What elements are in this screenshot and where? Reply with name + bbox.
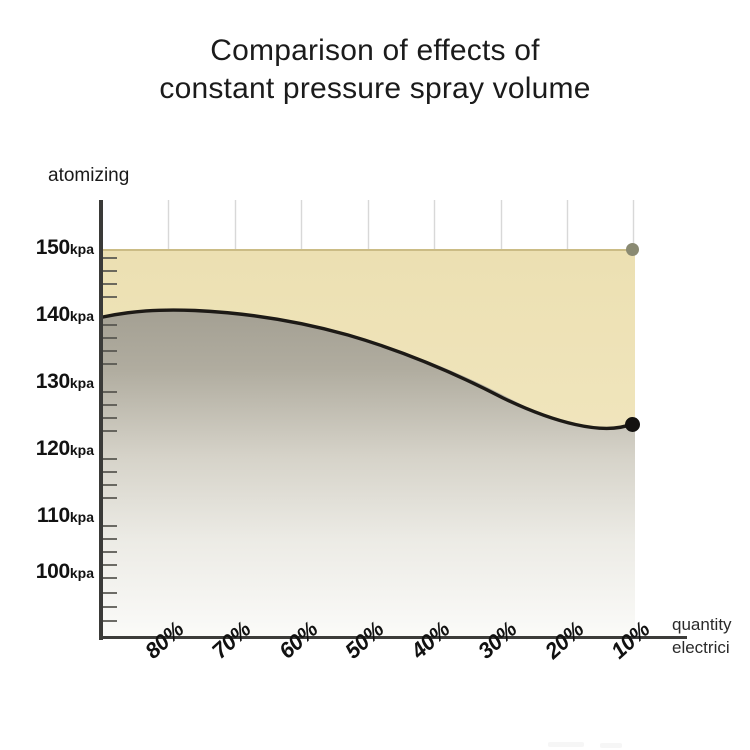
chart-canvas: Comparison of effects of constant pressu… [0, 0, 750, 750]
scan-artifact [600, 743, 622, 748]
y-tick-unit: kpa [70, 509, 94, 525]
y-minor-tick [103, 391, 117, 393]
chart-title-line1: Comparison of effects of [210, 34, 539, 67]
chart-title: Comparison of effects of constant pressu… [0, 32, 750, 108]
x-axis-title: quantity electrici [672, 613, 732, 659]
y-minor-tick [103, 577, 117, 579]
y-tick-label-140: 140kpa [36, 303, 94, 327]
y-minor-tick [103, 484, 117, 486]
chart-title-line2: constant pressure spray volume [0, 70, 750, 108]
y-tick-unit: kpa [70, 308, 94, 324]
y-tick-value: 100 [36, 560, 70, 583]
y-tick-label-120: 120kpa [36, 437, 94, 461]
y-minor-tick [103, 363, 117, 365]
y-minor-tick [103, 471, 117, 473]
y-axis-line [99, 200, 103, 640]
y-minor-tick [103, 538, 117, 540]
y-minor-tick [103, 564, 117, 566]
y-minor-tick [103, 458, 117, 460]
y-tick-value: 120 [36, 437, 70, 460]
y-axis-title: atomizing [48, 165, 129, 187]
scan-artifact [548, 742, 584, 747]
y-tick-value: 150 [36, 236, 70, 259]
y-minor-tick [103, 270, 117, 272]
y-minor-tick [103, 417, 117, 419]
plot-svg [103, 200, 635, 638]
y-tick-unit: kpa [70, 442, 94, 458]
x-axis-title-line2: electrici [672, 636, 732, 659]
plot-area [103, 200, 635, 638]
y-minor-tick [103, 551, 117, 553]
y-minor-tick [103, 497, 117, 499]
constant-pressure-endpoint-marker [626, 243, 639, 256]
y-minor-tick [103, 620, 117, 622]
y-tick-label-150: 150kpa [36, 236, 94, 260]
y-tick-unit: kpa [70, 241, 94, 257]
y-minor-tick [103, 296, 117, 298]
y-minor-tick [103, 283, 117, 285]
y-minor-tick [103, 404, 117, 406]
y-minor-tick [103, 525, 117, 527]
y-minor-tick [103, 606, 117, 608]
y-tick-unit: kpa [70, 565, 94, 581]
y-minor-tick [103, 430, 117, 432]
y-tick-value: 140 [36, 303, 70, 326]
plot-inner [103, 200, 635, 638]
y-minor-tick [103, 337, 117, 339]
y-tick-label-110: 110kpa [37, 504, 94, 528]
y-minor-tick [103, 592, 117, 594]
y-tick-value: 130 [36, 370, 70, 393]
y-tick-value: 110 [37, 504, 70, 527]
y-minor-tick [103, 350, 117, 352]
ordinary-pressure-endpoint-marker [625, 417, 640, 432]
x-axis-title-line1: quantity [672, 613, 732, 636]
y-tick-label-130: 130kpa [36, 370, 94, 394]
y-minor-tick [103, 324, 117, 326]
y-tick-unit: kpa [70, 375, 94, 391]
y-minor-tick [103, 257, 117, 259]
y-tick-label-100: 100kpa [36, 560, 94, 584]
